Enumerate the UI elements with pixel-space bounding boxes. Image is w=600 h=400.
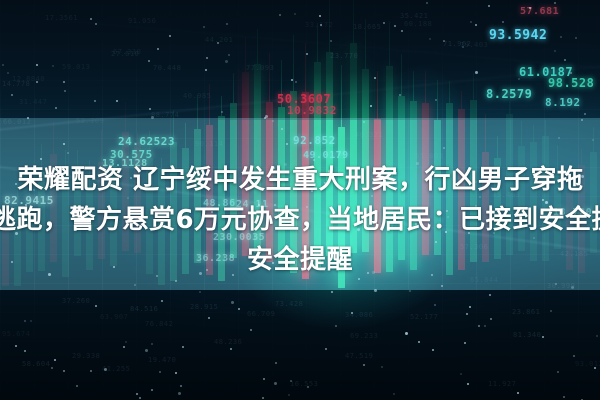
headline-line-3: 安全提醒 xyxy=(0,240,600,280)
lower-darkening-mask xyxy=(0,290,600,400)
news-thumbnail-image: 17.356191.05644.20112.884067.33033.17270… xyxy=(0,0,600,400)
headline-line-1: 荣耀配资 辽宁绥中发生重大刑案，行凶男子穿拖 xyxy=(0,160,600,200)
upper-darkening-mask xyxy=(0,0,600,120)
headline-line-2: 逃跑，警方悬赏6万元协查，当地居民：已接到安全提 xyxy=(0,200,600,240)
headline-text: 荣耀配资 辽宁绥中发生重大刑案，行凶男子穿拖 逃跑，警方悬赏6万元协查，当地居民… xyxy=(0,160,600,280)
